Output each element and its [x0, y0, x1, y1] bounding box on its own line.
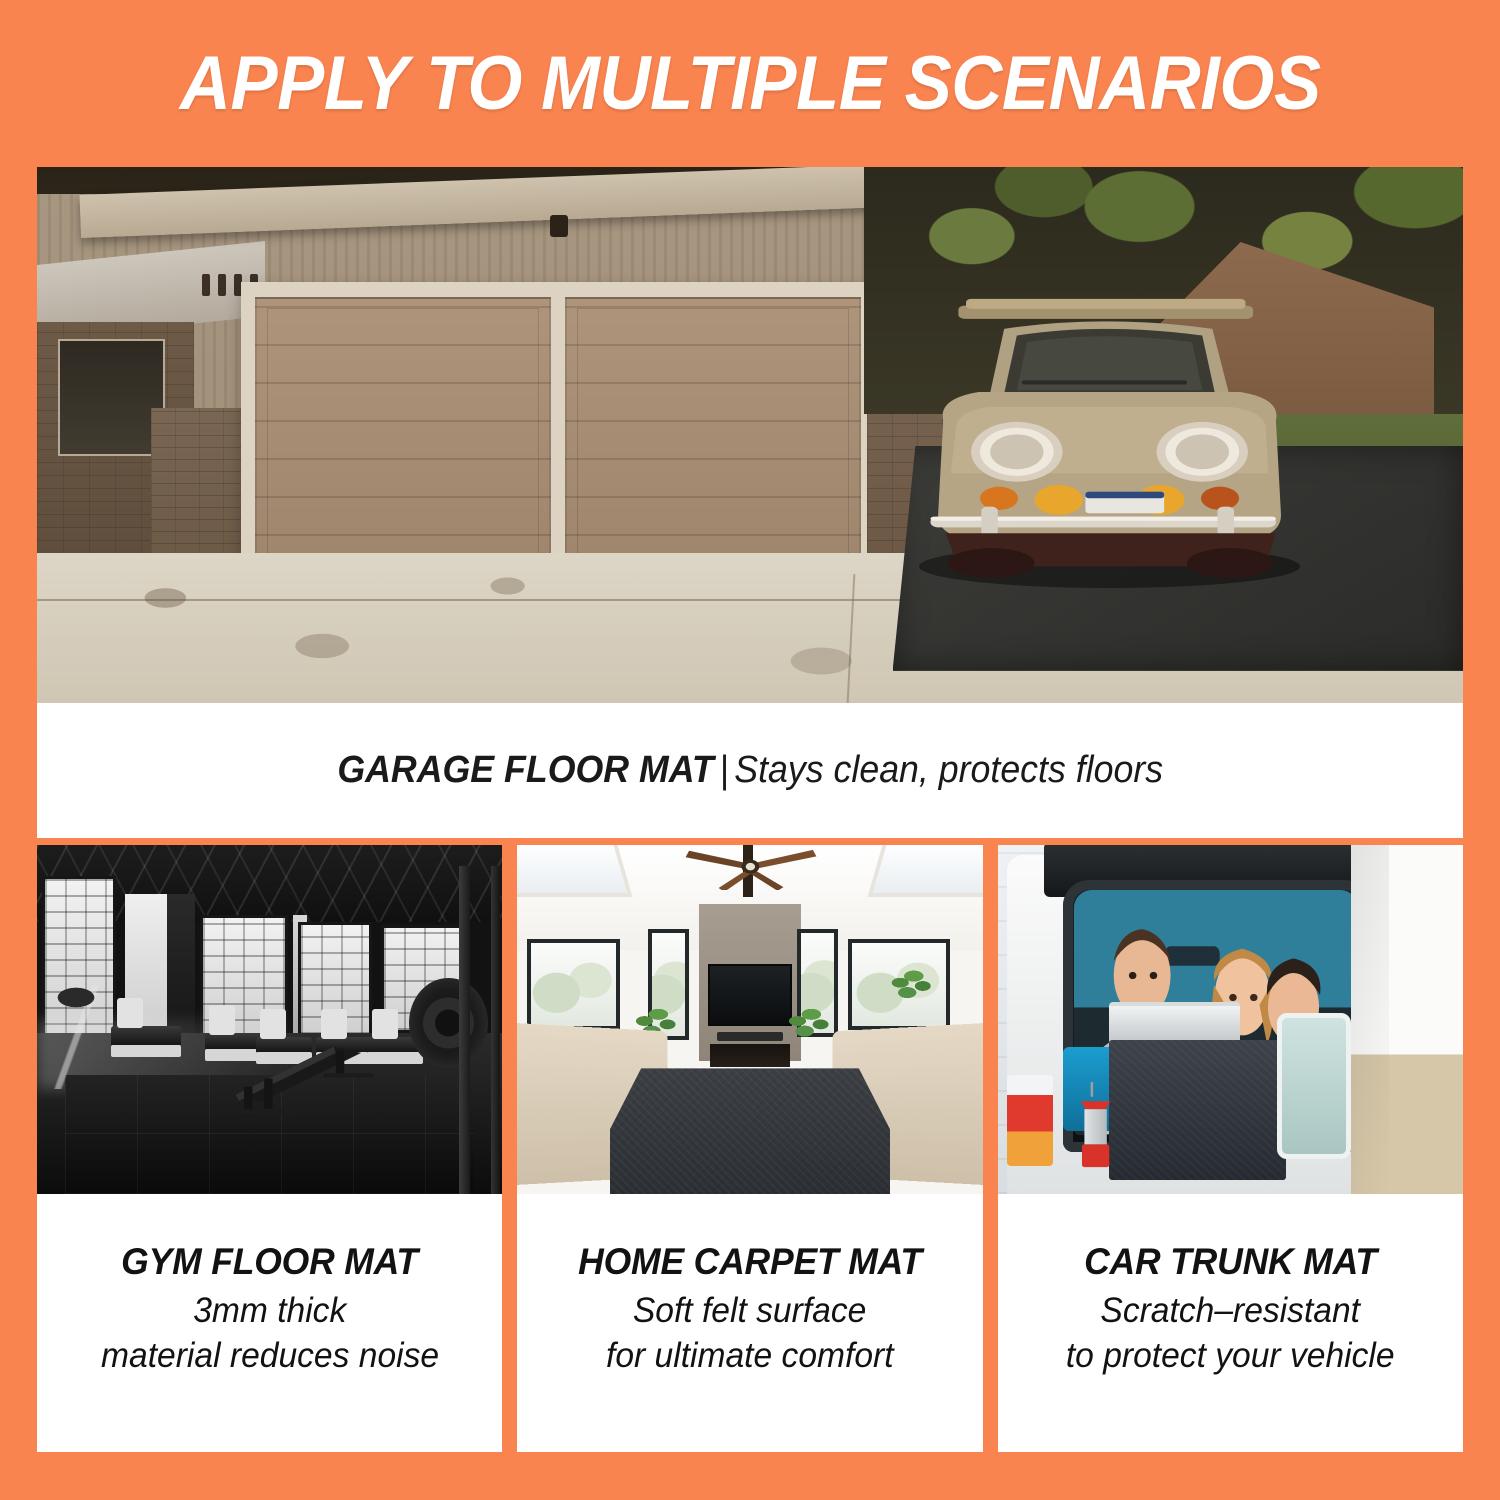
- barbell-weight-plate: [409, 978, 488, 1069]
- treadmill-1: [111, 1026, 181, 1047]
- featured-caption-title: GARAGE FLOOR MAT: [337, 749, 713, 791]
- vintage-suitcase: [1277, 1013, 1351, 1160]
- soundbar: [717, 1032, 782, 1041]
- gym-caption-line2: material reduces noise: [101, 1334, 439, 1379]
- garage-scene-photo: [37, 167, 1463, 703]
- featured-caption-separator: |: [713, 749, 734, 791]
- elliptical-machine: [46, 985, 120, 1090]
- garage-door-left: [255, 297, 551, 576]
- living-room-scene-photo: [517, 845, 982, 1194]
- gym-caption: GYM FLOOR MAT 3mm thick material reduces…: [37, 1194, 502, 1452]
- garage-door-right: [565, 297, 861, 576]
- home-caption-line2: for ultimate comfort: [606, 1334, 894, 1379]
- gym-caption-title: GYM FLOOR MAT: [121, 1241, 418, 1283]
- gym-scene-photo: [37, 845, 502, 1194]
- featured-caption-subtitle: Stays clean, protects floors: [734, 749, 1163, 791]
- trunk-caption: CAR TRUNK MAT Scratch–resistant to prote…: [998, 1194, 1463, 1452]
- power-rack-upright-1: [459, 866, 470, 1194]
- gym-caption-line1: 3mm thick: [193, 1289, 346, 1334]
- scenario-card-trunk: CAR TRUNK MAT Scratch–resistant to prote…: [998, 845, 1463, 1452]
- vintage-car-illustration: [900, 274, 1306, 606]
- exterior-light-icon: [550, 215, 568, 237]
- header-banner: APPLY TO MULTIPLE SCENARIOS: [0, 0, 1500, 167]
- trunk-caption-line1: Scratch–resistant: [1101, 1289, 1361, 1334]
- window-left: [58, 339, 165, 457]
- scenario-card-row: GYM FLOOR MAT 3mm thick material reduces…: [37, 845, 1463, 1452]
- power-rack-upright-2: [491, 866, 500, 1194]
- scenario-card-home: HOME CARPET MAT Soft felt surface for ul…: [517, 845, 982, 1452]
- car-trunk-scene-photo: [998, 845, 1463, 1194]
- featured-caption: GARAGE FLOOR MAT|Stays clean, protects f…: [37, 703, 1463, 838]
- person-standing-beside-car: [1351, 845, 1463, 1194]
- camping-lantern: [1077, 1082, 1114, 1173]
- houseplant-2: [787, 1002, 829, 1058]
- home-caption-title: HOME CARPET MAT: [578, 1241, 922, 1283]
- featured-scenario-card: GARAGE FLOOR MAT|Stays clean, protects f…: [37, 167, 1463, 838]
- home-carpet-mat: [610, 1068, 889, 1194]
- garage-door-frame: [241, 282, 877, 582]
- skylight-right: [867, 845, 983, 897]
- home-caption-line1: Soft felt surface: [633, 1289, 866, 1334]
- trunk-caption-line2: to protect your vehicle: [1066, 1334, 1395, 1379]
- page-title: APPLY TO MULTIPLE SCENARIOS: [180, 40, 1321, 127]
- living-window-1: [527, 939, 620, 1030]
- skylight-left: [517, 845, 633, 897]
- home-caption: HOME CARPET MAT Soft felt surface for ul…: [517, 1194, 982, 1452]
- wall-mounted-tv: [708, 964, 792, 1027]
- adjustable-bench: [223, 1020, 381, 1118]
- ceiling-fan-icon: [662, 848, 839, 890]
- infographic-page: APPLY TO MULTIPLE SCENARIOS: [0, 0, 1500, 1500]
- trunk-caption-title: CAR TRUNK MAT: [1084, 1241, 1377, 1283]
- garage-scene-illustration: [37, 167, 1463, 703]
- houseplant-3: [890, 964, 932, 1020]
- car-trunk-illustration: [998, 845, 1463, 1194]
- living-room-illustration: [517, 845, 982, 1194]
- tail-light: [1007, 1075, 1054, 1166]
- featured-caption-line: GARAGE FLOOR MAT|Stays clean, protects f…: [337, 749, 1163, 792]
- scenario-card-gym: GYM FLOOR MAT 3mm thick material reduces…: [37, 845, 502, 1452]
- gym-scene-illustration: [37, 845, 502, 1194]
- car-trunk-mat: [1109, 1040, 1286, 1180]
